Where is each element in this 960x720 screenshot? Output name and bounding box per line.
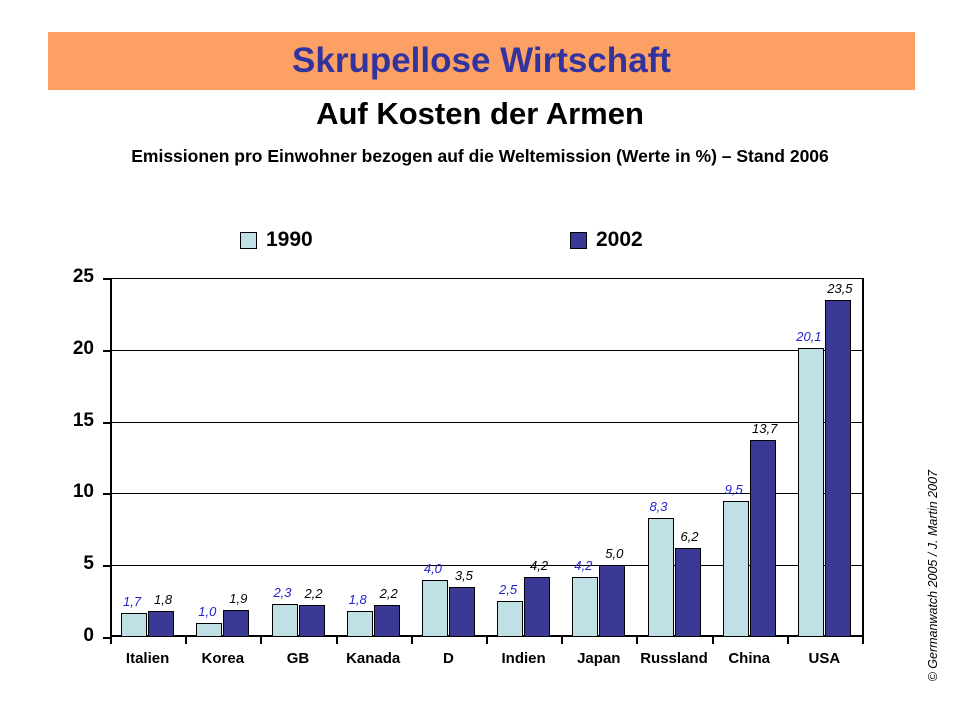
bar-value-label: 1,8: [143, 592, 183, 607]
y-axis-tick-label: 20: [42, 338, 94, 360]
x-axis-category-label: Japan: [561, 650, 636, 667]
bar-indien-2002: [524, 577, 550, 637]
x-axis-category-label: Kanada: [336, 650, 411, 667]
y-axis-tick-label: 10: [42, 481, 94, 503]
bar-value-label: 20,1: [789, 329, 829, 344]
x-axis-tick-mark: [411, 637, 413, 644]
y-axis-tick-mark: [103, 422, 110, 424]
bar-china-1990: [723, 501, 749, 637]
y-axis-tick-mark: [103, 493, 110, 495]
x-axis-category-label: Italien: [110, 650, 185, 667]
y-axis-tick-label: 0: [42, 625, 94, 647]
bar-japan-2002: [599, 565, 625, 637]
y-axis-tick-label: 25: [42, 266, 94, 288]
y-axis-tick-label: 5: [42, 553, 94, 575]
bar-value-label: 5,0: [594, 546, 634, 561]
bar-gb-1990: [272, 604, 298, 637]
bar-value-label: 8,3: [639, 499, 679, 514]
gridline: [112, 350, 864, 351]
y-axis-tick-mark: [103, 278, 110, 280]
x-axis-category-label: Indien: [486, 650, 561, 667]
bar-value-label: 1,9: [218, 591, 258, 606]
x-axis-tick-mark: [336, 637, 338, 644]
bar-chart: 0510152025 ItalienKoreaGBKanadaDIndienJa…: [0, 0, 960, 720]
bar-indien-1990: [497, 601, 523, 637]
x-axis-tick-mark: [185, 637, 187, 644]
x-axis-tick-mark: [260, 637, 262, 644]
bar-usa-1990: [798, 348, 824, 637]
y-axis-tick-mark: [103, 637, 110, 639]
bar-japan-1990: [572, 577, 598, 637]
bar-value-label: 13,7: [745, 421, 785, 436]
bar-value-label: 2,5: [488, 582, 528, 597]
x-axis-category-label: GB: [260, 650, 335, 667]
bar-value-label: 3,5: [444, 568, 484, 583]
bar-italien-2002: [148, 611, 174, 637]
bar-value-label: 2,2: [294, 586, 334, 601]
x-axis-category-label: USA: [787, 650, 862, 667]
x-axis-category-label: Russland: [636, 650, 711, 667]
gridline: [112, 278, 864, 279]
copyright-credit: © Germanwatch 2005 / J. Martin 2007: [926, 470, 940, 681]
bar-value-label: 9,5: [714, 482, 754, 497]
x-axis-tick-mark: [636, 637, 638, 644]
bar-china-2002: [750, 440, 776, 637]
bar-value-label: 2,2: [369, 586, 409, 601]
x-axis-tick-mark: [486, 637, 488, 644]
bar-value-label: 23,5: [820, 281, 860, 296]
y-axis-tick-mark: [103, 350, 110, 352]
bar-russland-2002: [675, 548, 701, 637]
x-axis-tick-mark: [712, 637, 714, 644]
bar-value-label: 4,2: [519, 558, 559, 573]
plot-right-border: [862, 278, 864, 637]
x-axis-tick-mark: [787, 637, 789, 644]
x-axis-category-label: China: [712, 650, 787, 667]
x-axis-tick-mark: [110, 637, 112, 644]
bar-d-1990: [422, 580, 448, 637]
y-axis-tick-label: 15: [42, 410, 94, 432]
bar-italien-1990: [121, 613, 147, 637]
x-axis-category-label: D: [411, 650, 486, 667]
bar-usa-2002: [825, 300, 851, 637]
bar-d-2002: [449, 587, 475, 637]
bar-kanada-2002: [374, 605, 400, 637]
x-axis-category-label: Korea: [185, 650, 260, 667]
bar-value-label: 1,0: [187, 604, 227, 619]
bar-kanada-1990: [347, 611, 373, 637]
bar-gb-2002: [299, 605, 325, 637]
bar-value-label: 6,2: [670, 529, 710, 544]
x-axis-tick-mark: [862, 637, 864, 644]
x-axis-tick-mark: [561, 637, 563, 644]
bar-korea-1990: [196, 623, 222, 637]
y-axis-tick-mark: [103, 565, 110, 567]
bar-korea-2002: [223, 610, 249, 637]
